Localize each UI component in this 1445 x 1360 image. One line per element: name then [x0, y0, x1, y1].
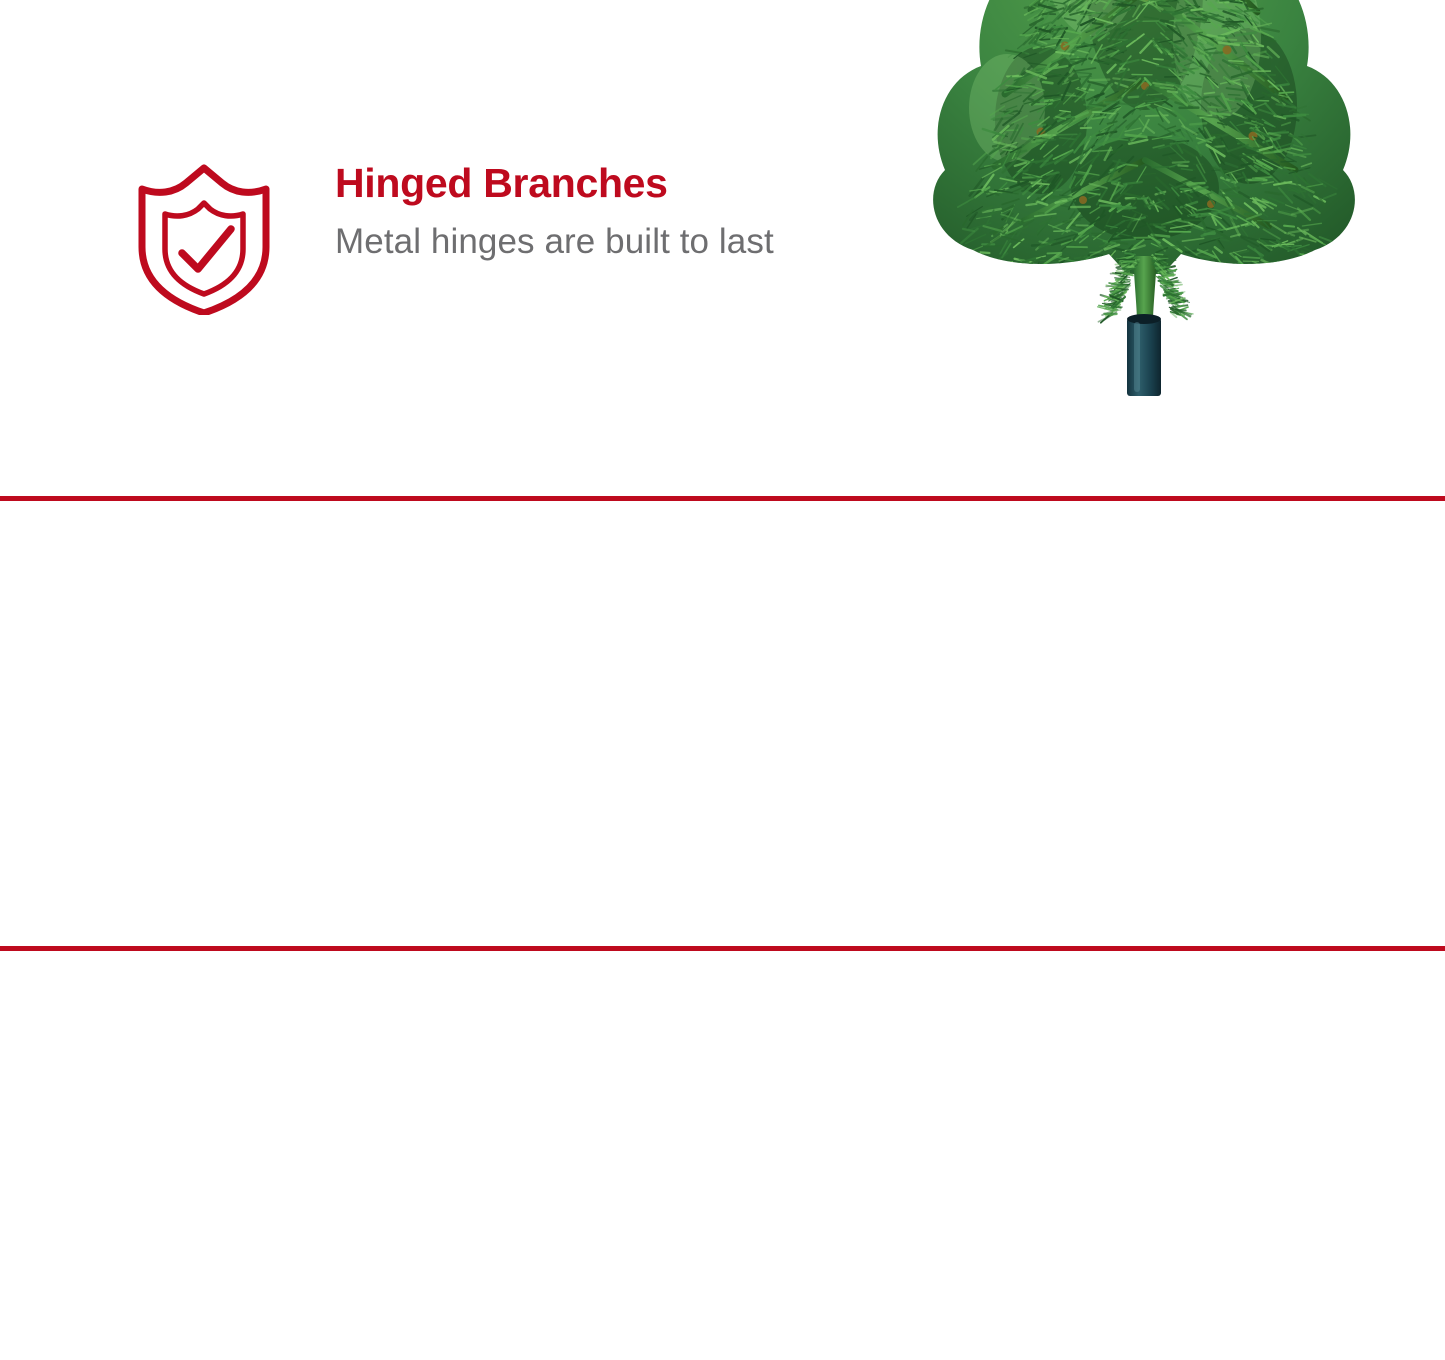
shield-check-icon: [128, 163, 280, 315]
feature-panel-sturdy-base: Sturdy Base A reliable metal stand for y…: [0, 951, 1445, 1360]
hinged-branches-subline: Metal hinges are built to last: [335, 219, 774, 265]
hinged-branches-text-block: Hinged Branches Metal hinges are built t…: [335, 162, 774, 265]
divider-line-bottom: [0, 946, 1445, 951]
hinged-branches-headline: Hinged Branches: [335, 162, 774, 205]
feature-panel-hinged-branches: Hinged Branches Metal hinges are built t…: [0, 0, 1445, 496]
christmas-tree-branches-photo: [845, 0, 1445, 490]
product-feature-infographic: Hinged Branches Metal hinges are built t…: [0, 0, 1445, 1360]
divider-line-top: [0, 496, 1445, 501]
feature-panel-pvc-tips: PVC Tips Flame-retardant and easy to flu…: [0, 501, 1445, 946]
